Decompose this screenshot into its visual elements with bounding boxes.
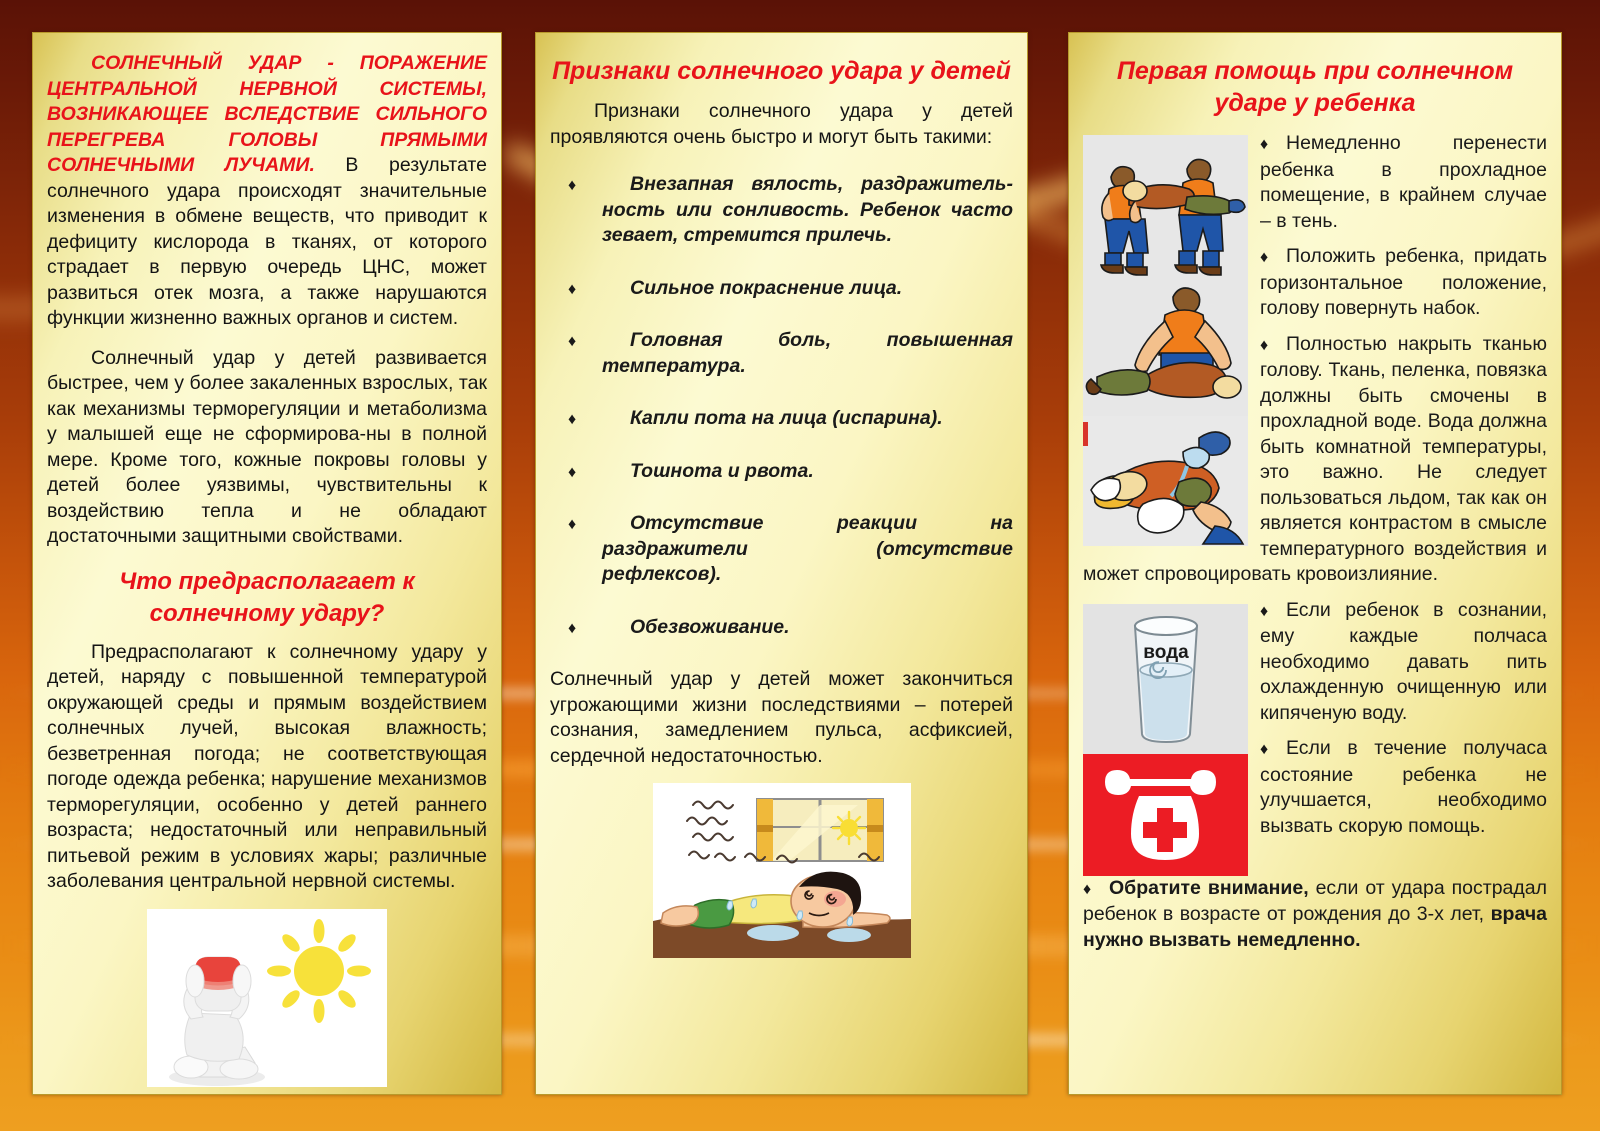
predisposing-heading: Что предрасполагает к солнечному удару? (47, 566, 487, 630)
symptoms-list: ♦ Внезапная вялость, раздражитель-ность … (550, 172, 1013, 640)
first-aid-step-1-text: Немедленно перенести ребенка в прохладно… (1260, 132, 1547, 232)
two-people-carrying-victim-icon (1083, 135, 1248, 283)
brochure-panel-first-aid: Первая помощь при солнечном ударе у ребе… (1068, 32, 1562, 1095)
diamond-bullet-icon: ♦ (568, 512, 576, 538)
symptom-text: Отсутствие реакции на раздражители (отсу… (602, 511, 1013, 588)
water-glass-label: вода (1143, 642, 1189, 663)
symptom-item: ♦ Обезвоживание. (550, 615, 1013, 641)
definition-paragraph: СОЛНЕЧНЫЙ УДАР - ПОРАЖЕНИЕ ЦЕНТРАЛЬНОЙ Н… (47, 51, 487, 332)
diamond-bullet-icon: ♦ (1260, 245, 1286, 271)
diamond-bullet-icon: ♦ (568, 460, 576, 486)
wet-cloth-on-head-icon (1083, 416, 1248, 546)
symptom-item: ♦ Сильное покраснение лица. (550, 276, 1013, 302)
children-faster-paragraph: Солнечный удар у детей развивается быстр… (47, 346, 487, 550)
symptom-text: Обезвоживание. (602, 615, 1013, 641)
illustration-wet-cloth (1083, 416, 1248, 546)
child-lying-overheated-by-window-icon (653, 783, 911, 958)
diamond-bullet-icon: ♦ (568, 277, 576, 303)
predisposing-paragraph: Предрасполагают к солнечному удару у дет… (47, 640, 487, 895)
diamond-bullet-icon: ♦ (1083, 877, 1109, 903)
symptom-item: ♦ Головная боль, повышенная температура. (550, 328, 1013, 379)
illustration-overheated-child (653, 783, 911, 958)
first-aid-step-2-text: Положить ребенка, придать горизонтальное… (1260, 245, 1547, 319)
illustration-heatstroke-figure (147, 909, 387, 1087)
diamond-bullet-icon: ♦ (1260, 333, 1286, 359)
symptom-item: ♦ Тошнота и рвота. (550, 459, 1013, 485)
symptoms-heading: Признаки солнечного удара у детей (550, 55, 1013, 87)
illustration-emergency-phone (1083, 754, 1248, 876)
symptom-item: ♦ Капли пота на лица (испарина). (550, 406, 1013, 432)
diamond-bullet-icon: ♦ (568, 616, 576, 642)
diamond-bullet-icon: ♦ (568, 407, 576, 433)
symptom-text: Внезапная вялость, раздражитель-ность ил… (602, 172, 1013, 249)
symptoms-outro: Солнечный удар у детей может закончиться… (550, 667, 1013, 769)
diamond-bullet-icon: ♦ (568, 329, 576, 355)
symptom-item: ♦ Внезапная вялость, раздражитель-ность … (550, 172, 1013, 249)
first-aid-note: ♦Обратите внимание, если от удара постра… (1083, 876, 1547, 954)
first-aid-step-5-text: Если в течение получаса состояние ребенк… (1260, 737, 1547, 837)
symptom-text: Тошнота и рвота. (602, 459, 1013, 485)
symptom-text: Сильное покраснение лица. (602, 276, 1013, 302)
illustration-lay-victim (1083, 283, 1248, 416)
emergency-phone-icon (1083, 754, 1248, 876)
illustration-carry-victim (1083, 135, 1248, 283)
definition-body-text: В результате солнечного удара происходят… (47, 154, 487, 329)
brochure-panel-symptoms: Признаки солнечного удара у детей Призна… (535, 32, 1028, 1095)
glass-of-water-icon: вода (1083, 604, 1248, 754)
figure-holding-head-with-sun-icon (147, 909, 387, 1087)
note-bold-start: Обратите внимание, (1109, 877, 1309, 899)
symptoms-intro: Признаки солнечного удара у детей проявл… (550, 99, 1013, 150)
symptom-text: Головная боль, повышенная температура. (602, 328, 1013, 379)
first-aid-heading: Первая помощь при солнечном ударе у ребе… (1083, 55, 1547, 119)
brochure-panel-definition: СОЛНЕЧНЫЙ УДАР - ПОРАЖЕНИЕ ЦЕНТРАЛЬНОЙ Н… (32, 32, 502, 1095)
diamond-bullet-icon: ♦ (1260, 737, 1286, 763)
first-aid-steps: ♦Немедленно перенести ребенка в прохладн… (1083, 131, 1547, 953)
illustration-glass-of-water: вода (1083, 604, 1248, 754)
symptom-item: ♦ Отсутствие реакции на раздражители (от… (550, 511, 1013, 588)
diamond-bullet-icon: ♦ (1260, 599, 1286, 625)
diamond-bullet-icon: ♦ (568, 173, 576, 199)
person-laying-victim-down-icon (1083, 283, 1248, 416)
diamond-bullet-icon: ♦ (1260, 132, 1286, 158)
first-aid-step-4-text: Если ребенок в сознании, ему каждые полч… (1260, 599, 1547, 724)
symptom-text: Капли пота на лица (испарина). (602, 406, 1013, 432)
